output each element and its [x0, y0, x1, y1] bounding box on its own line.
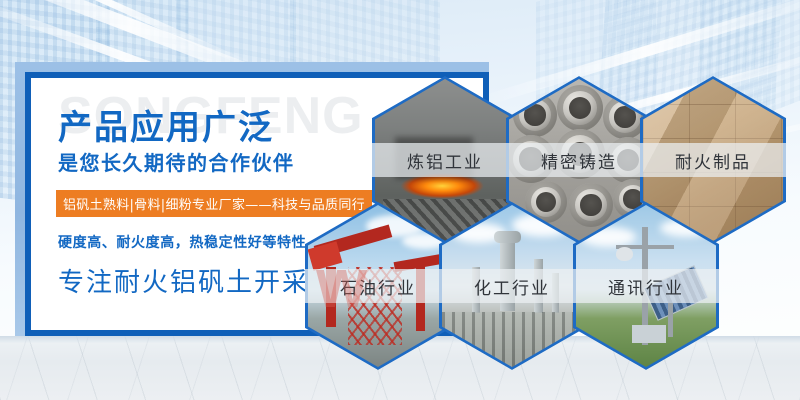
hexagon-label: 化工行业	[439, 269, 585, 303]
hexagon-label: 通讯行业	[573, 269, 719, 303]
hexagon-label: 炼铝工业	[372, 143, 518, 177]
hexagon-label: 精密铸造	[506, 143, 652, 177]
corner-watermark: W	[316, 258, 367, 320]
promo-banner: SONGFENG 产品应用广泛 是您长久期待的合作伙伴 铝矾土熟料|骨料|细粉专…	[0, 0, 800, 400]
industry-hexagon-grid: 炼铝工业 精密铸造	[0, 0, 800, 400]
hexagon-label: 耐火制品	[640, 143, 786, 177]
